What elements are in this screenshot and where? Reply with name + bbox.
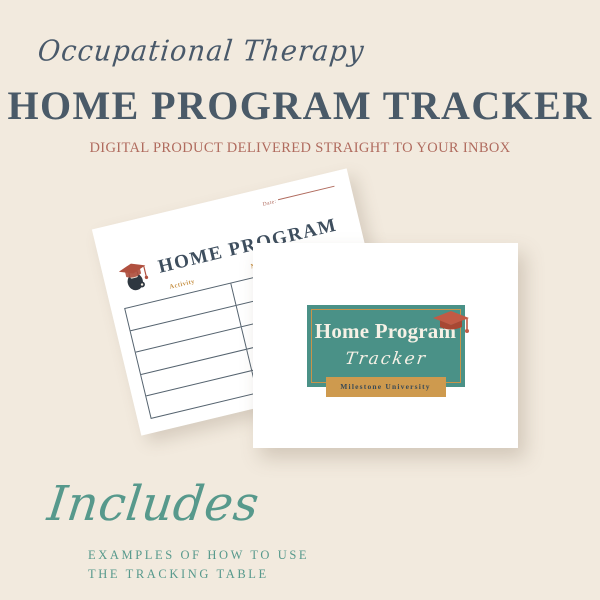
graduation-cap-mascot-icon [113, 255, 154, 296]
logo-script: Tracker [305, 349, 466, 369]
includes-note: EXAMPLES OF HOW TO USE THE TRACKING TABL… [88, 546, 309, 585]
promo-graphic-canvas: Occupational Therapy HOME PROGRAM TRACKE… [0, 0, 600, 600]
cover-logo-block: Home Program Tracker Milestone Universit… [307, 305, 465, 387]
includes-note-line-2: THE TRACKING TABLE [88, 565, 309, 584]
logo-badge: Milestone University [326, 377, 446, 397]
worksheet-date-field: Date: [262, 185, 335, 208]
cover-card: Home Program Tracker Milestone Universit… [253, 243, 518, 448]
graduation-cap-icon [431, 309, 471, 335]
worksheet-date-rule [278, 186, 335, 201]
worksheet-date-label: Date: [262, 199, 277, 208]
includes-script-text: Includes [45, 476, 263, 532]
includes-note-line-1: EXAMPLES OF HOW TO USE [88, 546, 309, 565]
